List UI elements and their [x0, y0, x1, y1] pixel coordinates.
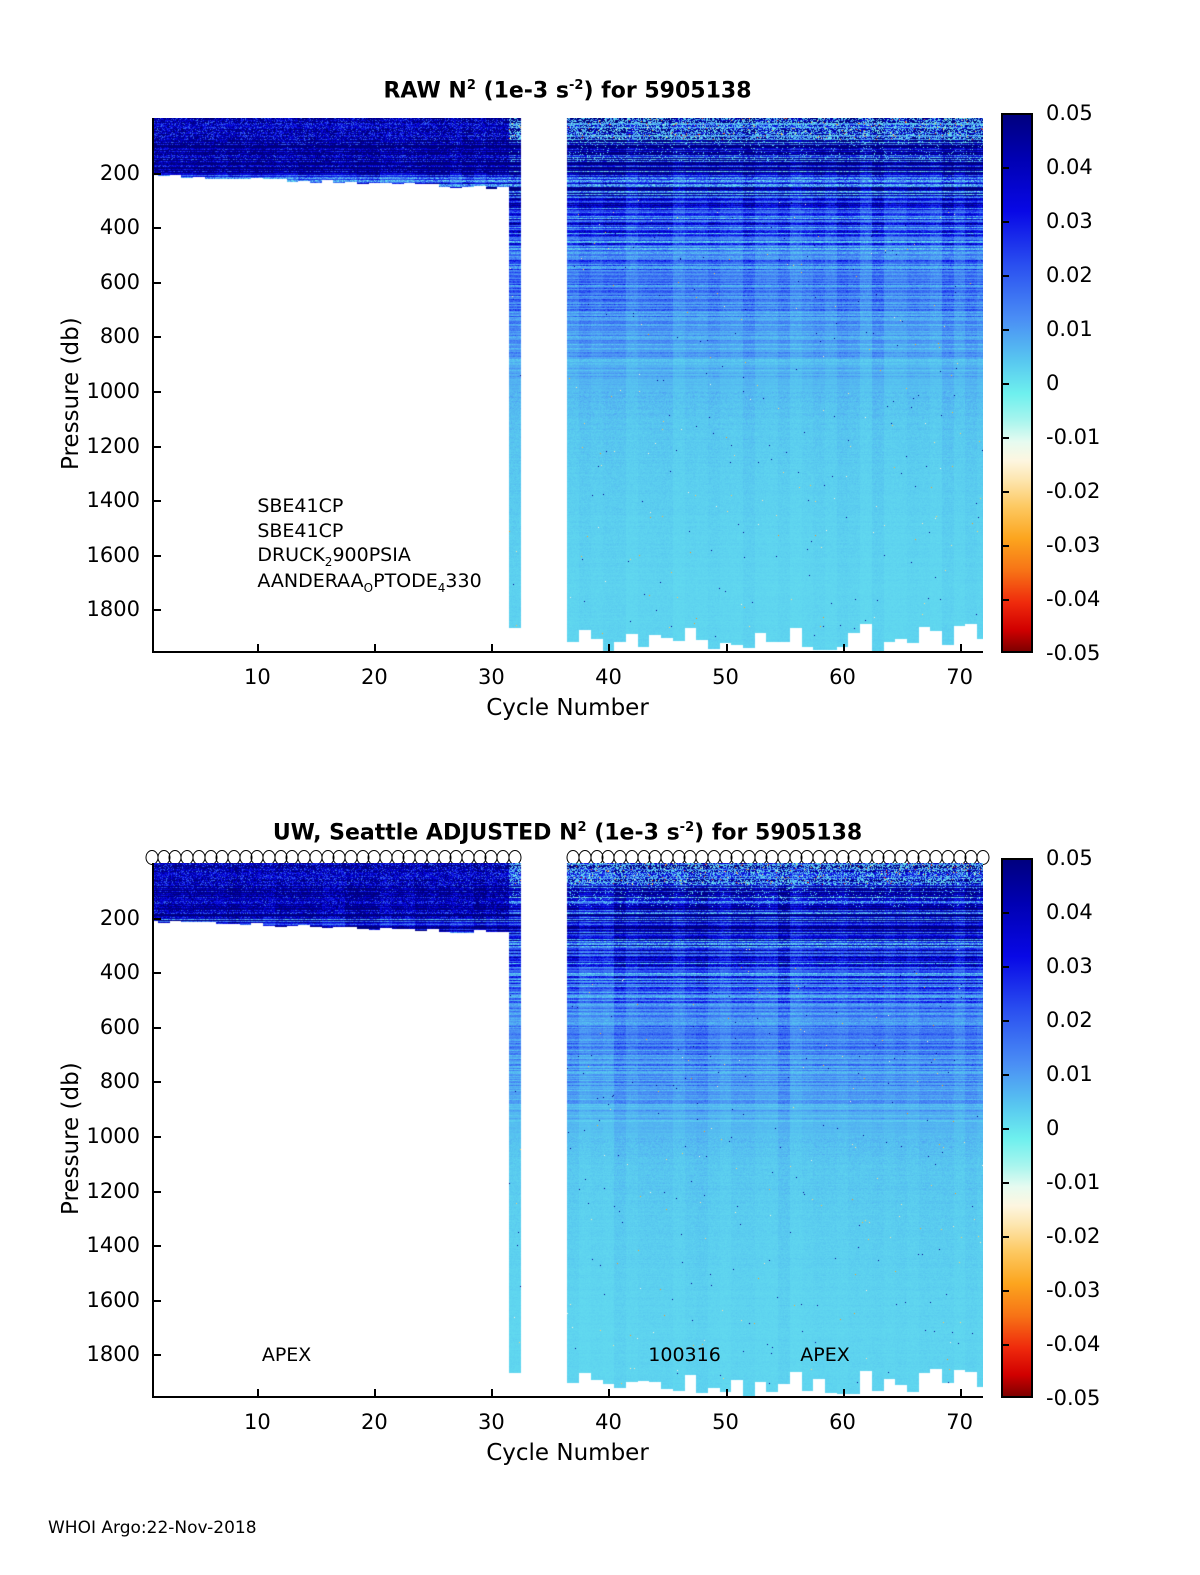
- colorbar-tick-mark: [1001, 912, 1009, 914]
- y-tick-label: 800: [76, 324, 140, 348]
- y-tick-label: 1600: [76, 543, 140, 567]
- colorbar-tick-label: -0.03: [1046, 533, 1100, 557]
- y-axis-title-adj: Pressure (db): [58, 1062, 84, 1215]
- colorbar-tick-mark: [1001, 221, 1009, 223]
- colorbar-tick-label: -0.03: [1046, 1278, 1100, 1302]
- x-tick-label: 10: [244, 665, 271, 689]
- y-tick-mark: [152, 500, 161, 502]
- colorbar-tick-label: 0.01: [1046, 317, 1093, 341]
- figure-footer: WHOI Argo:22-Nov-2018: [48, 1518, 257, 1538]
- colorbar-tick-label: -0.01: [1046, 425, 1100, 449]
- colorbar-tick-mark: [1001, 1020, 1009, 1022]
- y-tick-label: 200: [76, 161, 140, 185]
- x-tick-mark: [608, 1389, 610, 1398]
- y-axis-line-adj: [152, 863, 154, 1398]
- x-tick-mark: [257, 1389, 259, 1398]
- y-tick-label: 200: [76, 906, 140, 930]
- platform-type-left: APEX: [262, 1344, 311, 1366]
- y-tick-mark: [152, 227, 161, 229]
- panel-raw-title: RAW N2 (1e-3 s-2) for 5905138: [152, 78, 983, 103]
- colorbar-tick-mark: [1001, 1290, 1009, 1292]
- colorbar-tick-label: 0.05: [1046, 846, 1093, 870]
- colorbar-tick-label: 0.04: [1046, 900, 1093, 924]
- sensor-pressure: DRUCK2900PSIA: [257, 544, 411, 569]
- wmo-serial: 100316: [648, 1344, 721, 1366]
- y-axis-title-raw: Pressure (db): [58, 317, 84, 470]
- panel-adjusted-heatmap: [152, 863, 983, 1398]
- sensor-ctd-1: SBE41CP: [257, 495, 343, 517]
- y-tick-mark: [152, 173, 161, 175]
- colorbar-tick-mark: [1001, 1074, 1009, 1076]
- x-tick-label: 10: [244, 1410, 271, 1434]
- colorbar-tick-label: -0.02: [1046, 479, 1100, 503]
- y-tick-mark: [152, 609, 161, 611]
- x-tick-mark: [374, 644, 376, 653]
- x-tick-mark: [374, 1389, 376, 1398]
- x-axis-title-adj: Cycle Number: [152, 1440, 983, 1466]
- x-tick-label: 30: [478, 1410, 505, 1434]
- y-tick-label: 1400: [76, 1233, 140, 1257]
- colorbar-tick-label: -0.01: [1046, 1170, 1100, 1194]
- y-tick-label: 600: [76, 1015, 140, 1039]
- colorbar-tick-label: 0.02: [1046, 263, 1093, 287]
- x-tick-mark: [960, 644, 962, 653]
- colorbar-tick-mark: [1001, 1128, 1009, 1130]
- x-tick-label: 50: [712, 1410, 739, 1434]
- x-tick-mark: [843, 1389, 845, 1398]
- colorbar-tick-label: 0.03: [1046, 954, 1093, 978]
- x-tick-label: 70: [946, 1410, 973, 1434]
- x-tick-label: 30: [478, 665, 505, 689]
- colorbar-tick-mark: [1001, 167, 1009, 169]
- colorbar-tick-mark: [1001, 383, 1009, 385]
- sensor-ctd-2: SBE41CP: [257, 520, 343, 542]
- colorbar-tick-mark: [1001, 275, 1009, 277]
- x-tick-label: 70: [946, 665, 973, 689]
- colorbar-tick-mark: [1001, 545, 1009, 547]
- x-tick-mark: [608, 644, 610, 653]
- y-tick-label: 1000: [76, 1124, 140, 1148]
- x-tick-mark: [843, 644, 845, 653]
- y-tick-mark: [152, 555, 161, 557]
- y-tick-mark: [152, 1245, 161, 1247]
- platform-type-right: APEX: [800, 1344, 849, 1366]
- colorbar-tick-label: -0.05: [1046, 641, 1100, 665]
- panel-adjusted-axes: [152, 863, 983, 1398]
- x-tick-mark: [491, 644, 493, 653]
- y-axis-line-raw: [152, 118, 154, 653]
- x-axis-title-raw: Cycle Number: [152, 695, 983, 721]
- colorbar-tick-label: -0.02: [1046, 1224, 1100, 1248]
- x-tick-label: 60: [829, 665, 856, 689]
- x-axis-line-raw: [152, 651, 983, 653]
- x-axis-line-adj: [152, 1396, 983, 1398]
- colorbar-tick-mark: [1001, 329, 1009, 331]
- y-tick-mark: [152, 336, 161, 338]
- x-tick-label: 60: [829, 1410, 856, 1434]
- colorbar-tick-label: 0: [1046, 1116, 1059, 1140]
- x-tick-label: 40: [595, 1410, 622, 1434]
- colorbar-tick-label: -0.04: [1046, 1332, 1100, 1356]
- y-tick-label: 1200: [76, 434, 140, 458]
- panel-adjusted-title: UW, Seattle ADJUSTED N2 (1e-3 s-2) for 5…: [152, 820, 983, 845]
- y-tick-mark: [152, 1081, 161, 1083]
- colorbar-tick-label: 0.03: [1046, 209, 1093, 233]
- y-tick-label: 1000: [76, 379, 140, 403]
- x-tick-mark: [726, 1389, 728, 1398]
- y-tick-mark: [152, 1027, 161, 1029]
- y-tick-label: 400: [76, 960, 140, 984]
- y-tick-label: 1200: [76, 1179, 140, 1203]
- y-tick-mark: [152, 446, 161, 448]
- y-tick-label: 1800: [76, 597, 140, 621]
- y-tick-mark: [152, 1136, 161, 1138]
- y-tick-label: 400: [76, 215, 140, 239]
- y-tick-label: 800: [76, 1069, 140, 1093]
- colorbar-tick-mark: [1001, 1236, 1009, 1238]
- y-tick-label: 1800: [76, 1342, 140, 1366]
- x-tick-mark: [491, 1389, 493, 1398]
- x-tick-label: 20: [361, 1410, 388, 1434]
- y-tick-label: 600: [76, 270, 140, 294]
- colorbar-tick-mark: [1001, 966, 1009, 968]
- colorbar-tick-label: 0.05: [1046, 101, 1093, 125]
- y-tick-mark: [152, 972, 161, 974]
- colorbar-tick-label: 0.02: [1046, 1008, 1093, 1032]
- x-tick-mark: [726, 644, 728, 653]
- y-tick-mark: [152, 282, 161, 284]
- colorbar-tick-label: -0.05: [1046, 1386, 1100, 1410]
- colorbar-tick-label: 0.01: [1046, 1062, 1093, 1086]
- colorbar-tick-mark: [1001, 491, 1009, 493]
- y-tick-mark: [152, 391, 161, 393]
- y-tick-mark: [152, 1354, 161, 1356]
- y-tick-label: 1600: [76, 1288, 140, 1312]
- x-tick-label: 50: [712, 665, 739, 689]
- y-tick-label: 1400: [76, 488, 140, 512]
- sensor-oxygen: AANDERAAOPTODE4330: [257, 570, 481, 595]
- y-tick-mark: [152, 1191, 161, 1193]
- colorbar-tick-label: 0.04: [1046, 155, 1093, 179]
- colorbar-tick-mark: [1001, 1182, 1009, 1184]
- x-tick-mark: [257, 644, 259, 653]
- x-tick-label: 20: [361, 665, 388, 689]
- colorbar-tick-label: 0: [1046, 371, 1059, 395]
- colorbar-tick-mark: [1001, 437, 1009, 439]
- y-tick-mark: [152, 1300, 161, 1302]
- x-tick-label: 40: [595, 665, 622, 689]
- colorbar-tick-mark: [1001, 1344, 1009, 1346]
- colorbar-tick-mark: [1001, 599, 1009, 601]
- colorbar-tick-label: -0.04: [1046, 587, 1100, 611]
- x-tick-mark: [960, 1389, 962, 1398]
- y-tick-mark: [152, 918, 161, 920]
